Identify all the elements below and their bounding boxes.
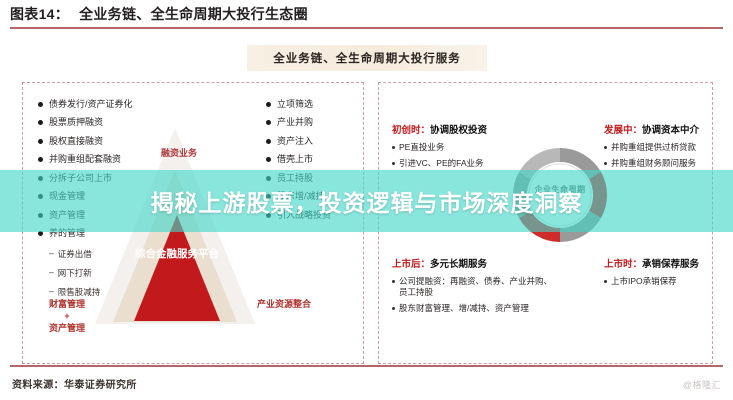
right-block-item-label: 上市IPO承销保荐 [611, 276, 677, 287]
watermark-label: @格隆汇 [683, 378, 721, 391]
list-item-label: 借壳上市 [277, 155, 313, 164]
right-block-startup: 初创时：协调股权投资 PE直投业务 引进VC、PE的FA业务 [392, 122, 542, 174]
right-block-item: 并购重组财务顾问服务 [604, 158, 708, 169]
list-item: 产业并购 [266, 118, 331, 127]
bullet-icon [604, 280, 607, 283]
bullet-icon [266, 120, 271, 125]
bullet-icon [266, 102, 271, 107]
right-block-item-label: 并购重组提供过桥贷款 [611, 142, 696, 153]
right-block-post-listing: 上市后：多元长期服务 公司提融资：再融资、债券、产业并购、员工持股 股东财富管理… [392, 256, 554, 319]
sub-list-item-label: 证券出借 [58, 248, 92, 260]
right-block-item-label: 并购重组财务顾问服务 [611, 158, 696, 169]
bullet-icon [392, 146, 395, 149]
triangle-left-label-top: 财富管理 [49, 299, 85, 309]
triangle-left-label-bottom: 资产管理 [49, 323, 85, 333]
list-item-label: 资产注入 [277, 137, 313, 146]
right-block-item: 股东财富管理、增/减持、资产管理 [392, 303, 554, 314]
figure-page: 图表14： 全业务链、全生命周期大投行生态圈 全业务链、全生命周期大投行服务 债… [0, 0, 733, 400]
right-block-item-label: 引进VC、PE的FA业务 [399, 158, 484, 169]
bullet-icon [604, 146, 607, 149]
right-block-title: 承销保荐服务 [642, 259, 699, 270]
right-block-item: PE直投业务 [392, 142, 542, 153]
list-item-label: 立项筛选 [277, 100, 313, 109]
right-block-item-label: 股东财富管理、增/减持、资产管理 [399, 303, 529, 314]
figure-title: 全业务链、全生命周期大投行生态圈 [79, 4, 308, 24]
header-divider [10, 27, 723, 29]
right-block-item: 引进VC、PE的FA业务 [392, 158, 542, 169]
dash-icon: – [49, 286, 54, 298]
bullet-icon [392, 162, 395, 165]
triangle-apex-label: 融资业务 [156, 148, 202, 159]
triangle-right-label: 产业资源整合 [248, 298, 320, 310]
right-block-title: 协调资本中介 [642, 125, 699, 136]
bullet-icon [604, 162, 607, 165]
sub-list-item-label: 限售股减持 [58, 286, 101, 298]
list-item: 股票质押融资 [38, 118, 133, 127]
dash-icon: – [49, 267, 54, 279]
right-block-title: 多元长期服务 [430, 259, 487, 270]
triangle-left-label: 财富管理 + 资产管理 [22, 298, 112, 334]
right-block-stage: 上市时： [604, 259, 642, 270]
source-note: 资料来源：华泰证券研究所 [12, 376, 137, 391]
sub-list-item-label: 网下打新 [58, 267, 92, 279]
list-item: 借壳上市 [266, 155, 331, 164]
right-block-item: 公司提融资：再融资、债券、产业并购、员工持股 [392, 276, 554, 298]
bullet-icon [266, 157, 271, 162]
triangle-left-label-plus: + [64, 311, 69, 321]
bullet-icon [38, 102, 43, 107]
right-block-stage: 上市后： [392, 259, 430, 270]
list-item-label: 股票质押融资 [49, 118, 103, 127]
overlay-headline: 揭秘上游股票，投资逻辑与市场深度洞察 [0, 170, 733, 232]
right-block-stage: 初创时： [392, 125, 430, 136]
list-item: 立项筛选 [266, 100, 331, 109]
right-block-item: 上市IPO承销保荐 [604, 276, 708, 287]
figure-label: 图表14： [10, 4, 69, 24]
right-block-at-listing: 上市时：承销保荐服务 上市IPO承销保荐 [604, 256, 708, 292]
bullet-icon [392, 280, 395, 283]
dash-icon: – [49, 248, 54, 260]
bullet-icon [266, 139, 271, 144]
right-block-item-label: PE直投业务 [399, 142, 444, 153]
right-block-heading: 上市后：多元长期服务 [392, 256, 554, 270]
chart-banner-title: 全业务链、全生命周期大投行服务 [247, 45, 487, 71]
footer-divider [10, 365, 723, 367]
right-block-stage: 发展中： [604, 125, 642, 136]
list-item-label: 债券发行/资产证券化 [49, 100, 133, 109]
right-block-item-label: 公司提融资：再融资、债券、产业并购、员工持股 [399, 276, 554, 298]
triangle-core-label: 综合金融服务平台 [132, 248, 222, 262]
right-block-title: 协调股权投资 [430, 125, 487, 136]
right-block-heading: 发展中：协调资本中介 [604, 122, 708, 136]
list-item-label: 产业并购 [277, 118, 313, 127]
right-block-heading: 初创时：协调股权投资 [392, 122, 542, 136]
right-block-item: 并购重组提供过桥贷款 [604, 142, 708, 153]
list-item: 资产注入 [266, 137, 331, 146]
bullet-icon [392, 307, 395, 310]
bullet-icon [38, 157, 43, 162]
list-item: 债券发行/资产证券化 [38, 100, 133, 109]
right-block-growth: 发展中：协调资本中介 并购重组提供过桥贷款 并购重组财务顾问服务 [604, 122, 708, 174]
bullet-icon [38, 120, 43, 125]
bullet-icon [38, 139, 43, 144]
right-block-heading: 上市时：承销保荐服务 [604, 256, 708, 270]
